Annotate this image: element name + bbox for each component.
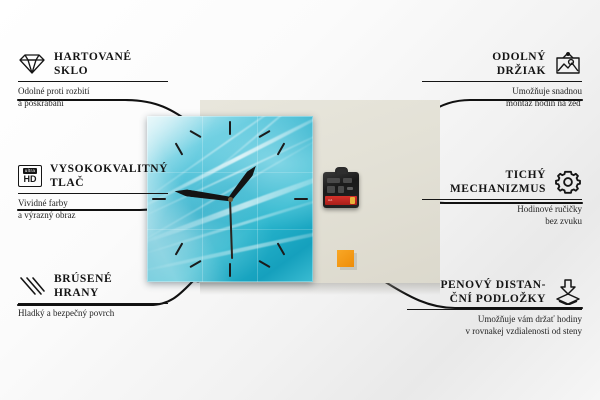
feature-desc-line1: Hodinové ručičky [422,204,582,216]
photo-backdrop-shadow [200,283,440,295]
feature-desc-line2: bez zvuku [422,216,582,228]
feature-divider [18,303,168,304]
picture-hanger-icon [554,52,582,76]
feature-desc-line2: montáž hodin na zeď [422,98,582,110]
feature-title-line2: SKLO [54,64,132,78]
feature-title-line2: MECHANIZMUS [450,182,546,196]
diamond-icon [18,53,46,75]
feature-divider [422,199,582,200]
feature-title-line1: VYSOKOKVALITNÝ [50,162,168,176]
clock-mechanism: AA [323,172,359,208]
foam-spacer-pad [337,250,354,267]
feature-divider [18,193,168,194]
feature-hardened-glass: HARTOVANÉ SKLO Odolné proti rozbití a po… [18,50,168,109]
feature-title-line2: HRANY [54,286,112,300]
feature-divider [407,309,582,310]
feature-high-quality-print: ultraHD VYSOKOKVALITNÝ TLAČ Vividné farb… [18,162,168,221]
feature-desc-line1: Umožňuje snadnou [422,86,582,98]
feature-durable-hanger: ODOLNÝ DRŽIAK Umožňuje snadnou montáž ho… [422,50,582,109]
feature-desc-line2: a poškrábání [18,98,168,110]
feature-desc-line2: v rovnakej vzdialenosti od steny [407,326,582,338]
feature-divider [422,81,582,82]
battery-label: AA [328,198,332,202]
mechanism-battery: AA [325,196,357,205]
gear-icon [554,169,582,195]
feature-desc-line1: Hladký a bezpečný povrch [18,308,168,320]
feature-title-line2: DRŽIAK [492,64,546,78]
feature-sanded-edges: BRÚSENÉ HRANY Hladký a bezpečný povrch [18,272,168,320]
feature-title-line1: PENOVÝ DISTAN- [440,278,546,292]
foam-pad-icon [554,279,582,305]
feature-desc-line1: Vividné farby [18,198,168,210]
clock-center-pin [228,197,233,202]
feature-title-line1: HARTOVANÉ [54,50,132,64]
feature-desc-line1: Umožňuje vám držať hodiny [407,314,582,326]
infographic-canvas: AA HARTOVANÉ SKLO Odolné proti rozbití a… [0,0,600,400]
sanded-edges-icon [18,275,46,297]
feature-foam-spacers: PENOVÝ DISTAN- ČNÍ PODLOŽKY Umožňuje vám… [407,278,582,337]
product-photo: AA [140,100,440,295]
feature-title-line1: TICHÝ [450,168,546,182]
feature-desc-line1: Odolné proti rozbití [18,86,168,98]
feature-divider [18,81,168,82]
feature-title-line2: ČNÍ PODLOŽKY [440,292,546,306]
wall-clock [147,116,313,282]
feature-title-line2: TLAČ [50,176,168,190]
feature-title-line1: BRÚSENÉ [54,272,112,286]
mechanism-hook [335,167,348,174]
feature-title-line1: ODOLNÝ [492,50,546,64]
ultra-hd-icon: ultraHD [18,165,42,187]
feature-silent-mechanism: TICHÝ MECHANIZMUS Hodinové ručičky bez z… [422,168,582,227]
feature-desc-line2: a výrazný obraz [18,210,168,222]
